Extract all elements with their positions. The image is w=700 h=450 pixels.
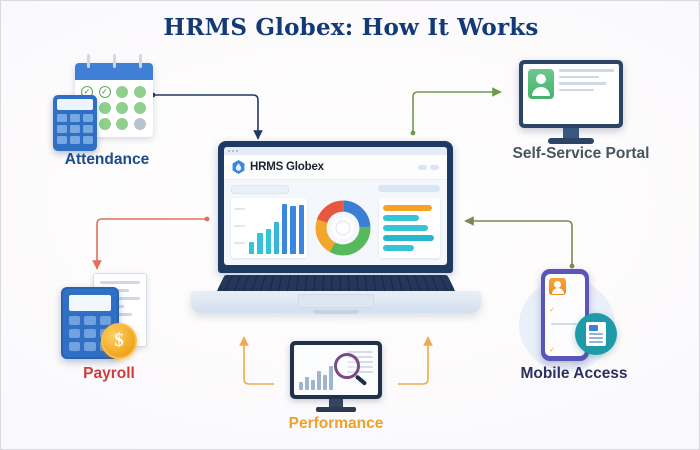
window-dot-icon [236,150,238,152]
connector-attendance-to-laptop [153,95,258,139]
laptop-lid: HRMS Globex [218,141,453,273]
calendar-day [99,118,111,130]
monitor-profile-icon [519,60,623,128]
dashboard-widgets [231,198,440,258]
mini-bar-series [299,364,333,390]
calendar-day [99,102,111,114]
hexagon-logo-icon [232,160,245,174]
calendar-day-checked: ✓ [99,86,111,98]
header-controls[interactable] [418,165,439,170]
connector-performance-left-to-laptop [244,337,274,384]
small-calculator-icon [53,95,97,151]
calculator-screen [69,295,111,311]
infographic-canvas: HRMS Globex: How It Works [0,0,700,450]
node-payroll[interactable]: $ Payroll [49,269,169,389]
bar-series [249,204,304,254]
bar [249,242,254,254]
connector-mobile-to-laptop [465,221,572,266]
monitor-screen [294,345,378,395]
document-page-icon [586,322,606,346]
trackpad[interactable] [298,294,374,308]
horizontal-bar [383,245,414,251]
calendar-ring-icon [87,54,90,68]
axis-tick [234,225,245,227]
calculator-keys [57,114,93,144]
node-attendance[interactable]: ✓ ✓ Attendance [47,51,167,176]
bar [290,206,295,254]
node-label-payroll: Payroll [83,365,135,383]
search-input[interactable] [231,185,289,194]
horizontal-bar [383,215,419,221]
bar [299,205,304,254]
laptop-base [191,267,481,307]
window-dot-icon [232,150,234,152]
calendar-day [116,102,128,114]
user-avatar-icon [549,278,566,295]
magnifier-handle-icon [355,374,368,385]
monitor-magnifier-icon [290,341,382,399]
node-performance[interactable]: Performance [276,339,396,447]
bar [274,222,279,254]
hrms-laptop[interactable]: HRMS Globex [191,141,481,331]
laptop-screen[interactable]: HRMS Globex [224,147,447,265]
profile-avatar-icon [528,69,554,99]
document-badge-icon [575,313,617,355]
bar [282,204,287,254]
monitor-neck [329,399,343,407]
app-window-chrome [224,147,447,155]
check-icon: ✓ [549,307,555,314]
dashboard-toolbar [231,185,440,194]
dollar-coin-icon: $ [101,323,137,359]
bar-chart-widget [231,198,307,258]
monitor-screen [523,64,619,124]
dashboard-body [224,180,447,262]
connector-performance-right-to-laptop [398,337,428,384]
calendar-day [134,86,146,98]
horizontal-bar-widget [379,198,440,258]
monitor-foot [316,407,356,412]
calculator-screen [57,99,93,110]
node-mobile-access[interactable]: ✓ ✓ Mobile Access [509,269,639,389]
node-label-attendance: Attendance [65,151,149,169]
window-dot-icon [228,150,230,152]
axis-tick [234,208,245,210]
header-pill-icon [430,165,439,170]
monitor-neck [563,128,579,138]
monitor-foot [548,138,594,144]
calendar-day [116,86,128,98]
bar [266,229,271,254]
calendar-ring-icon [113,54,116,68]
app-brand-name: HRMS Globex [250,161,324,173]
profile-text-lines [559,69,614,119]
node-self-service-portal[interactable]: Self-Service Portal [501,56,661,176]
calendar-rings [75,54,153,68]
donut-chart-widget [312,198,374,258]
bar [257,233,262,254]
toolbar-button[interactable] [378,185,440,192]
header-pill-icon [418,165,427,170]
calendar-day [134,102,146,114]
base-notch [313,310,359,314]
calendar-day [116,118,128,130]
node-label-mobile-access: Mobile Access [520,365,627,383]
node-label-performance: Performance [289,415,384,433]
check-icon: ✓ [549,347,555,354]
calendar-ring-icon [139,54,142,68]
horizontal-bar [383,235,434,241]
horizontal-bar [383,225,428,231]
node-label-self-service-portal: Self-Service Portal [513,145,650,163]
horizontal-bar [383,205,432,211]
axis-tick [234,242,245,244]
connector-laptop-to-selfservice [413,92,501,133]
app-header: HRMS Globex [224,155,447,180]
donut-hole [332,217,354,239]
calendar-day-off [134,118,146,130]
